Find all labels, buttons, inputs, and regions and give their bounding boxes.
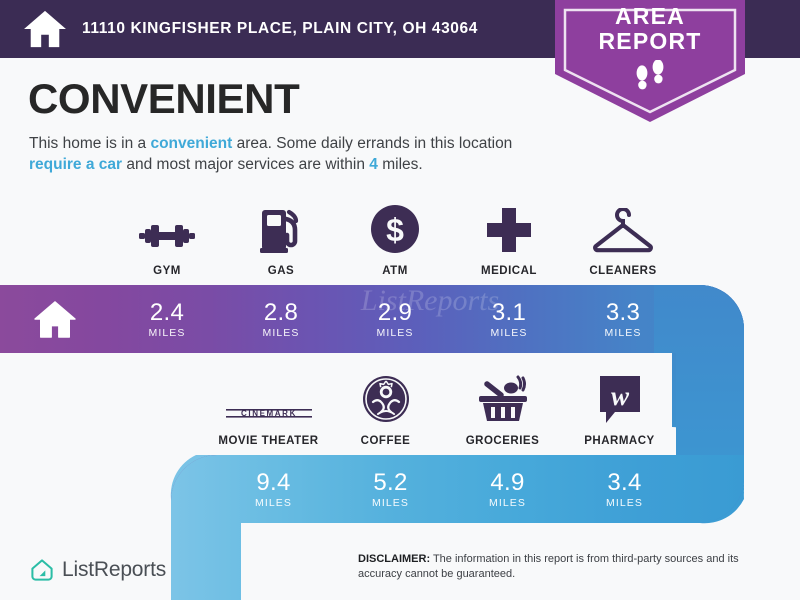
distance-unit: MILES: [372, 497, 409, 509]
icon-art: [485, 202, 533, 254]
distance-unit: MILES: [606, 497, 643, 509]
distance-segment-gas: 2.8 MILES: [224, 285, 338, 353]
distance-unit: MILES: [255, 497, 292, 509]
page-subtitle: This home is in a convenient area. Some …: [29, 133, 549, 175]
distance-unit: MILES: [489, 497, 526, 509]
dollar-circle-icon: $: [370, 204, 420, 254]
icon-art: [259, 202, 303, 254]
amenity-label: GAS: [268, 265, 294, 277]
distance-value: 3.4: [607, 470, 641, 495]
property-address: 11110 KINGFISHER PLACE, PLAIN CITY, OH 4…: [82, 20, 478, 38]
distance-segment-pharmacy: 3.4 MILES: [566, 455, 683, 523]
gas-pump-icon: [259, 206, 303, 254]
subtitle-part-3: and most major services are within: [122, 156, 369, 173]
area-report-badge: AREA REPORT: [555, 0, 745, 122]
badge-line-2: REPORT: [555, 29, 745, 54]
home-marker-segment: [0, 285, 110, 353]
distance-value: 9.4: [256, 470, 290, 495]
amenity-gas: GAS: [224, 202, 338, 277]
infographic-page: 11110 KINGFISHER PLACE, PLAIN CITY, OH 4…: [0, 0, 800, 600]
subtitle-highlight-convenient: convenient: [150, 135, 232, 152]
amenity-label: MEDICAL: [481, 265, 537, 277]
listreports-wordmark: ListReports: [62, 558, 166, 582]
distance-segment-gym: 2.4 MILES: [110, 285, 224, 353]
footprints-icon: [632, 60, 670, 94]
subtitle-highlight-require-a-car: require a car: [29, 156, 122, 173]
distance-value: 2.4: [150, 300, 184, 325]
medical-cross-icon: [485, 206, 533, 254]
amenity-icon-row-1: GYM GAS $ ATM: [110, 202, 680, 277]
distance-value: 2.9: [378, 300, 412, 325]
distance-unit: MILES: [490, 327, 527, 339]
amenity-atm: $ ATM: [338, 202, 452, 277]
disclaimer-label: DISCLAIMER:: [358, 553, 430, 565]
distance-unit: MILES: [148, 327, 185, 339]
subtitle-highlight-miles: 4: [369, 156, 378, 173]
distance-segment-medical: 3.1 MILES: [452, 285, 566, 353]
amenity-label: CLEANERS: [589, 265, 656, 277]
distance-unit: MILES: [604, 327, 641, 339]
distance-segment-atm: 2.9 MILES: [338, 285, 452, 353]
amenity-label: ATM: [382, 265, 408, 277]
distance-segment-coffee: 5.2 MILES: [332, 455, 449, 523]
distance-value: 3.3: [606, 300, 640, 325]
distance-unit: MILES: [376, 327, 413, 339]
distance-value: 2.8: [264, 300, 298, 325]
distance-value: 4.9: [490, 470, 524, 495]
dumbbell-icon: [137, 218, 197, 254]
badge-line-1: AREA: [555, 4, 745, 29]
home-icon: [32, 299, 78, 339]
distance-value: 3.1: [492, 300, 526, 325]
disclaimer: DISCLAIMER: The information in this repo…: [358, 552, 778, 582]
hanger-icon: [592, 208, 654, 254]
distance-bar-row-2: 9.4 MILES 5.2 MILES 4.9 MILES 3.4 MILES: [215, 455, 683, 523]
listreports-logo: ListReports: [30, 558, 166, 582]
subtitle-part-1: This home is in a: [29, 135, 150, 152]
amenity-cleaners: CLEANERS: [566, 202, 680, 277]
badge-title: AREA REPORT: [555, 4, 745, 54]
svg-text:$: $: [386, 212, 404, 248]
distance-value: 5.2: [373, 470, 407, 495]
icon-art: [592, 202, 654, 254]
home-icon: [22, 9, 68, 49]
distance-bar-row-1: 2.4 MILES 2.8 MILES 2.9 MILES 3.1 MILES …: [0, 285, 680, 353]
icon-art: $: [370, 202, 420, 254]
amenity-medical: MEDICAL: [452, 202, 566, 277]
icon-art: [137, 202, 197, 254]
amenity-label: GYM: [153, 265, 181, 277]
distance-segment-groceries: 4.9 MILES: [449, 455, 566, 523]
subtitle-part-2: area. Some daily errands in this locatio…: [232, 135, 512, 152]
page-title: CONVENIENT: [28, 75, 299, 123]
distance-unit: MILES: [262, 327, 299, 339]
distance-segment-cleaners: 3.3 MILES: [566, 285, 680, 353]
amenity-gym: GYM: [110, 202, 224, 277]
subtitle-part-4: miles.: [378, 156, 423, 173]
distance-segment-movie-theater: 9.4 MILES: [215, 455, 332, 523]
listreports-house-icon: [30, 558, 54, 582]
